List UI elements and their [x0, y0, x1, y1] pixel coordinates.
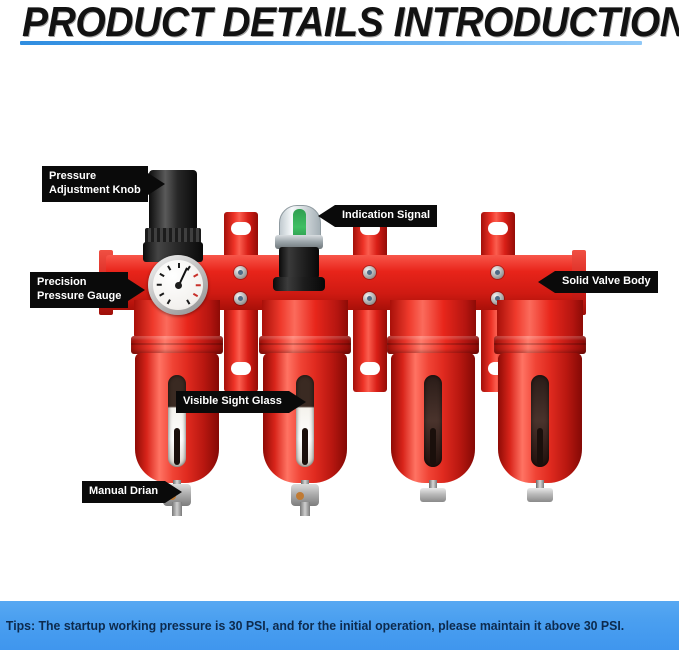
unit-body-2	[262, 300, 348, 340]
callout-arrow-left-icon	[318, 205, 335, 227]
callout-precision-pressure-gauge: Precision Pressure Gauge	[30, 272, 145, 308]
bracket-bolt	[363, 292, 376, 305]
bracket-bolt	[234, 292, 247, 305]
bracket-hole-icon	[360, 362, 380, 375]
gauge-face	[153, 260, 203, 310]
callout-label: Pressure Adjustment Knob	[42, 166, 148, 202]
sight-glass-4	[531, 375, 549, 467]
filter-bowl-4	[498, 353, 582, 483]
gauge-hub	[175, 282, 182, 289]
tips-banner: Tips: The startup working pressure is 30…	[0, 601, 679, 650]
bracket-hole-icon	[231, 362, 251, 375]
callout-solid-valve-body: Solid Valve Body	[538, 271, 658, 293]
sight-glass-3	[424, 375, 442, 467]
unit-collar-2	[259, 336, 351, 354]
unit-body-3	[390, 300, 476, 340]
callout-label: Manual Drian	[82, 481, 165, 503]
signal-body	[279, 247, 319, 281]
callout-indication-signal: Indication Signal	[318, 205, 437, 227]
callout-visible-sight-glass: Visible Sight Glass	[176, 391, 306, 413]
sight-glass-2	[296, 375, 314, 467]
unit-body-4	[497, 300, 583, 340]
filter-bowl-2	[263, 353, 347, 483]
unit-collar-1	[131, 336, 223, 354]
drain-outlet-1	[172, 502, 182, 516]
callout-arrow-right-icon	[148, 173, 165, 195]
bracket-hole-icon	[231, 222, 251, 235]
unit-collar-3	[387, 336, 479, 354]
manual-drain-nut-3	[420, 488, 446, 502]
callout-arrow-right-icon	[128, 279, 145, 301]
bracket-hole-icon	[488, 222, 508, 235]
manual-drain-nut-4	[527, 488, 553, 502]
page-title: PRODUCT DETAILS INTRODUCTION	[22, 0, 679, 46]
sight-glass-1	[168, 375, 186, 467]
bracket-bolt	[363, 266, 376, 279]
callout-pressure-adjustment-knob: Pressure Adjustment Knob	[42, 166, 165, 202]
bracket-bolt	[234, 266, 247, 279]
callout-arrow-left-icon	[538, 271, 555, 293]
tips-text: Tips: The startup working pressure is 30…	[0, 619, 624, 633]
callout-arrow-right-icon	[165, 481, 182, 503]
callout-manual-drain: Manual Drian	[82, 481, 182, 503]
callout-label: Indication Signal	[335, 205, 437, 227]
page-header: PRODUCT DETAILS INTRODUCTION	[0, 0, 679, 58]
callout-label: Solid Valve Body	[555, 271, 658, 293]
filter-bowl-3	[391, 353, 475, 483]
precision-pressure-gauge	[148, 255, 208, 315]
drain-outlet-2	[300, 502, 310, 516]
signal-flange	[273, 277, 325, 291]
callout-label: Precision Pressure Gauge	[30, 272, 128, 308]
title-underline-bar	[20, 41, 642, 45]
callout-label: Visible Sight Glass	[176, 391, 289, 413]
callout-arrow-right-icon	[289, 391, 306, 413]
unit-collar-4	[494, 336, 586, 354]
filter-bowl-1	[135, 353, 219, 483]
bracket-bolt	[491, 266, 504, 279]
